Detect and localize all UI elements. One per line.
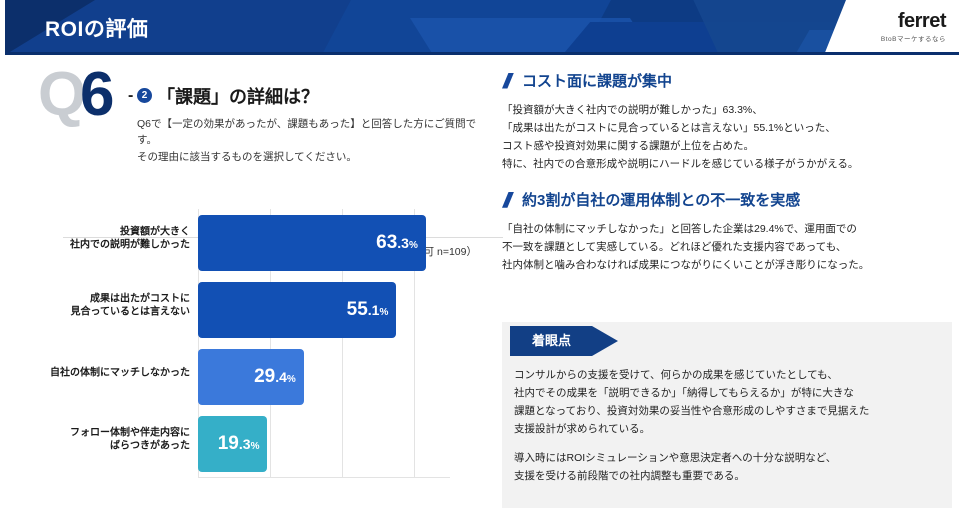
insight-line: 支援設計が求められている。 [514,420,944,438]
bar-chart: 63.3%55.1%29.4%19.3% コスト・投資判断の課題自社の運用体制の… [12,205,478,495]
insight-paragraph: コンサルからの支援を受けて、何らかの成果を感じていたとしても、社内でその成果を「… [514,366,944,438]
bar-value-percent: % [409,240,418,251]
category-label-holder: 自社の体制にマッチしなかった [12,366,190,380]
insight-line: 社内でその成果を「説明できるか」「納得してもらえるか」が特に大きな [514,384,944,402]
bar-value-decimal: .4 [275,369,287,385]
category-label-holder: 投資額が大きく社内での説明が難しかった [12,225,190,252]
slash-marker-icon [502,192,514,208]
insight-panel: 着眼点 コンサルからの支援を受けて、何らかの成果を感じていたとしても、社内でその… [502,322,952,508]
bar-value-label: 63.3% [376,232,418,254]
bar-value-decimal: .1 [368,302,380,318]
chart-axis-line [198,477,450,478]
bar-value-whole: 63 [376,232,397,253]
slide-header: ROIの評価 ferret BtoBマーケするなら [5,0,959,55]
bar-segment: 63.3% [198,215,426,271]
insight-line: 支援を受ける前段階での社内調整も重要である。 [514,467,944,485]
header-underline [5,52,959,55]
bar-value-label: 29.4% [254,366,296,388]
bar-value-decimal: .3 [397,235,409,251]
bar-segment: 29.4% [198,349,304,405]
brand-logo: ferret [898,10,946,33]
analysis-body-line: 特に、社内での合意形成や説明にハードルを感じている様子がうかがえる。 [502,155,952,173]
question-letter: Q [38,64,86,126]
question-number: 6 [80,64,114,126]
question-description-line-2: その理由に該当するものを選択してください。 [137,149,485,165]
analysis-body-line: コスト感や投資対効果に関する課題が上位を占めた。 [502,137,952,155]
right-column: コスト面に課題が集中「投資額が大きく社内での説明が難しかった」63.3%、「成果… [502,70,952,274]
analysis-body-line: 「自社の体制にマッチしなかった」と回答した企業は29.4%で、運用面での [502,220,952,238]
category-label-holder: 成果は出たがコストに見合っているとは言えない [12,292,190,319]
bar-segment: 55.1% [198,282,396,338]
analysis-body-line: 「成果は出たがコストに見合っているとは言えない」55.1%といった、 [502,119,952,137]
chart-plot-area: 63.3%55.1%29.4%19.3% [198,209,450,477]
category-label-line: 社内での説明が難しかった [12,239,190,253]
analysis-section-body: 「投資額が大きく社内での説明が難しかった」63.3%、「成果は出たがコストに見合… [502,101,952,173]
analysis-body-line: 「投資額が大きく社内での説明が難しかった」63.3%、 [502,101,952,119]
analysis-body-line: 社内体制と噛み合わなければ成果につながりにくいことが浮き彫りになった。 [502,256,952,274]
bar-value-decimal: .3 [239,436,251,452]
question-description: Q6で【一定の効果があったが、課題もあった】と回答した方にご質問です。 その理由… [137,116,485,165]
left-column: Q 6 - 2 「課題」の詳細は？ Q6で【一定の効果があったが、課題もあった】… [30,66,485,144]
question-dash: - [128,87,133,105]
category-label-line: 成果は出たがコストに [12,292,190,306]
category-label-line: 見合っているとは言えない [12,306,190,320]
bar-value-percent: % [379,307,388,318]
bar-row: 63.3% [198,215,450,271]
question-title: 「課題」の詳細は？ [157,83,319,109]
bar-row: 29.4% [198,349,450,405]
insight-line: 導入時にはROIシミュレーションや意思決定者への十分な説明など、 [514,449,944,467]
category-label-line: フォロー体制や伴走内容に [12,426,190,440]
question-block: Q 6 - 2 「課題」の詳細は？ Q6で【一定の効果があったが、課題もあった】… [30,66,485,144]
analysis-section-heading: コスト面に課題が集中 [502,70,952,91]
category-label: 成果は出たがコストに見合っているとは言えない [12,292,190,319]
bar-value-whole: 55 [347,299,368,320]
bar-value-whole: 19 [218,433,239,454]
logo-plate: ferret BtoBマーケするなら [824,0,959,55]
analysis-body-line: 不一致を課題として実感している。どれほど優れた支援内容であっても、 [502,238,952,256]
analysis-section: コスト面に課題が集中「投資額が大きく社内での説明が難しかった」63.3%、「成果… [502,70,952,173]
category-label: フォロー体制や伴走内容にばらつきがあった [12,426,190,453]
bar-value-percent: % [287,374,296,385]
insight-line: コンサルからの支援を受けて、何らかの成果を感じていたとしても、 [514,366,944,384]
slash-marker-icon [502,73,514,89]
bar-value-whole: 29 [254,366,275,387]
analysis-section-body: 「自社の体制にマッチしなかった」と回答した企業は29.4%で、運用面での不一致を… [502,220,952,274]
analysis-section: 約3割が自社の運用体制との不一致を実感「自社の体制にマッチしなかった」と回答した… [502,189,952,274]
bar-row: 55.1% [198,282,450,338]
question-description-line-1: Q6で【一定の効果があったが、課題もあった】と回答した方にご質問です。 [137,116,485,149]
page-title: ROIの評価 [45,13,148,43]
bar-value-label: 19.3% [218,433,260,455]
insight-paragraph: 導入時にはROIシミュレーションや意思決定者への十分な説明など、支援を受ける前段… [514,449,944,485]
slide-root: ROIの評価 ferret BtoBマーケするなら Q 6 - 2 「課題」の詳… [0,0,959,516]
bar-value-percent: % [251,441,260,452]
analysis-heading-text: 約3割が自社の運用体制との不一致を実感 [522,189,800,210]
category-label: 自社の体制にマッチしなかった [12,366,190,380]
category-label-holder: フォロー体制や伴走内容にばらつきがあった [12,426,190,453]
question-subnumber-badge: 2 [137,88,152,103]
category-label: 投資額が大きく社内での説明が難しかった [12,225,190,252]
analysis-heading-text: コスト面に課題が集中 [522,70,672,91]
category-label-line: 投資額が大きく [12,225,190,239]
bar-segment: 19.3% [198,416,267,472]
bar-row: 19.3% [198,416,450,472]
bar-value-label: 55.1% [347,299,389,321]
analysis-section-heading: 約3割が自社の運用体制との不一致を実感 [502,189,952,210]
category-label-line: 自社の体制にマッチしなかった [12,366,190,380]
insight-badge: 着眼点 [510,326,618,356]
brand-tagline: BtoBマーケするなら [881,33,946,43]
category-label-line: ばらつきがあった [12,440,190,454]
insight-body: コンサルからの支援を受けて、何らかの成果を感じていたとしても、社内でその成果を「… [514,366,944,485]
insight-line: 課題となっており、投資対効果の妥当性や合意形成のしやすさまで見据えた [514,402,944,420]
